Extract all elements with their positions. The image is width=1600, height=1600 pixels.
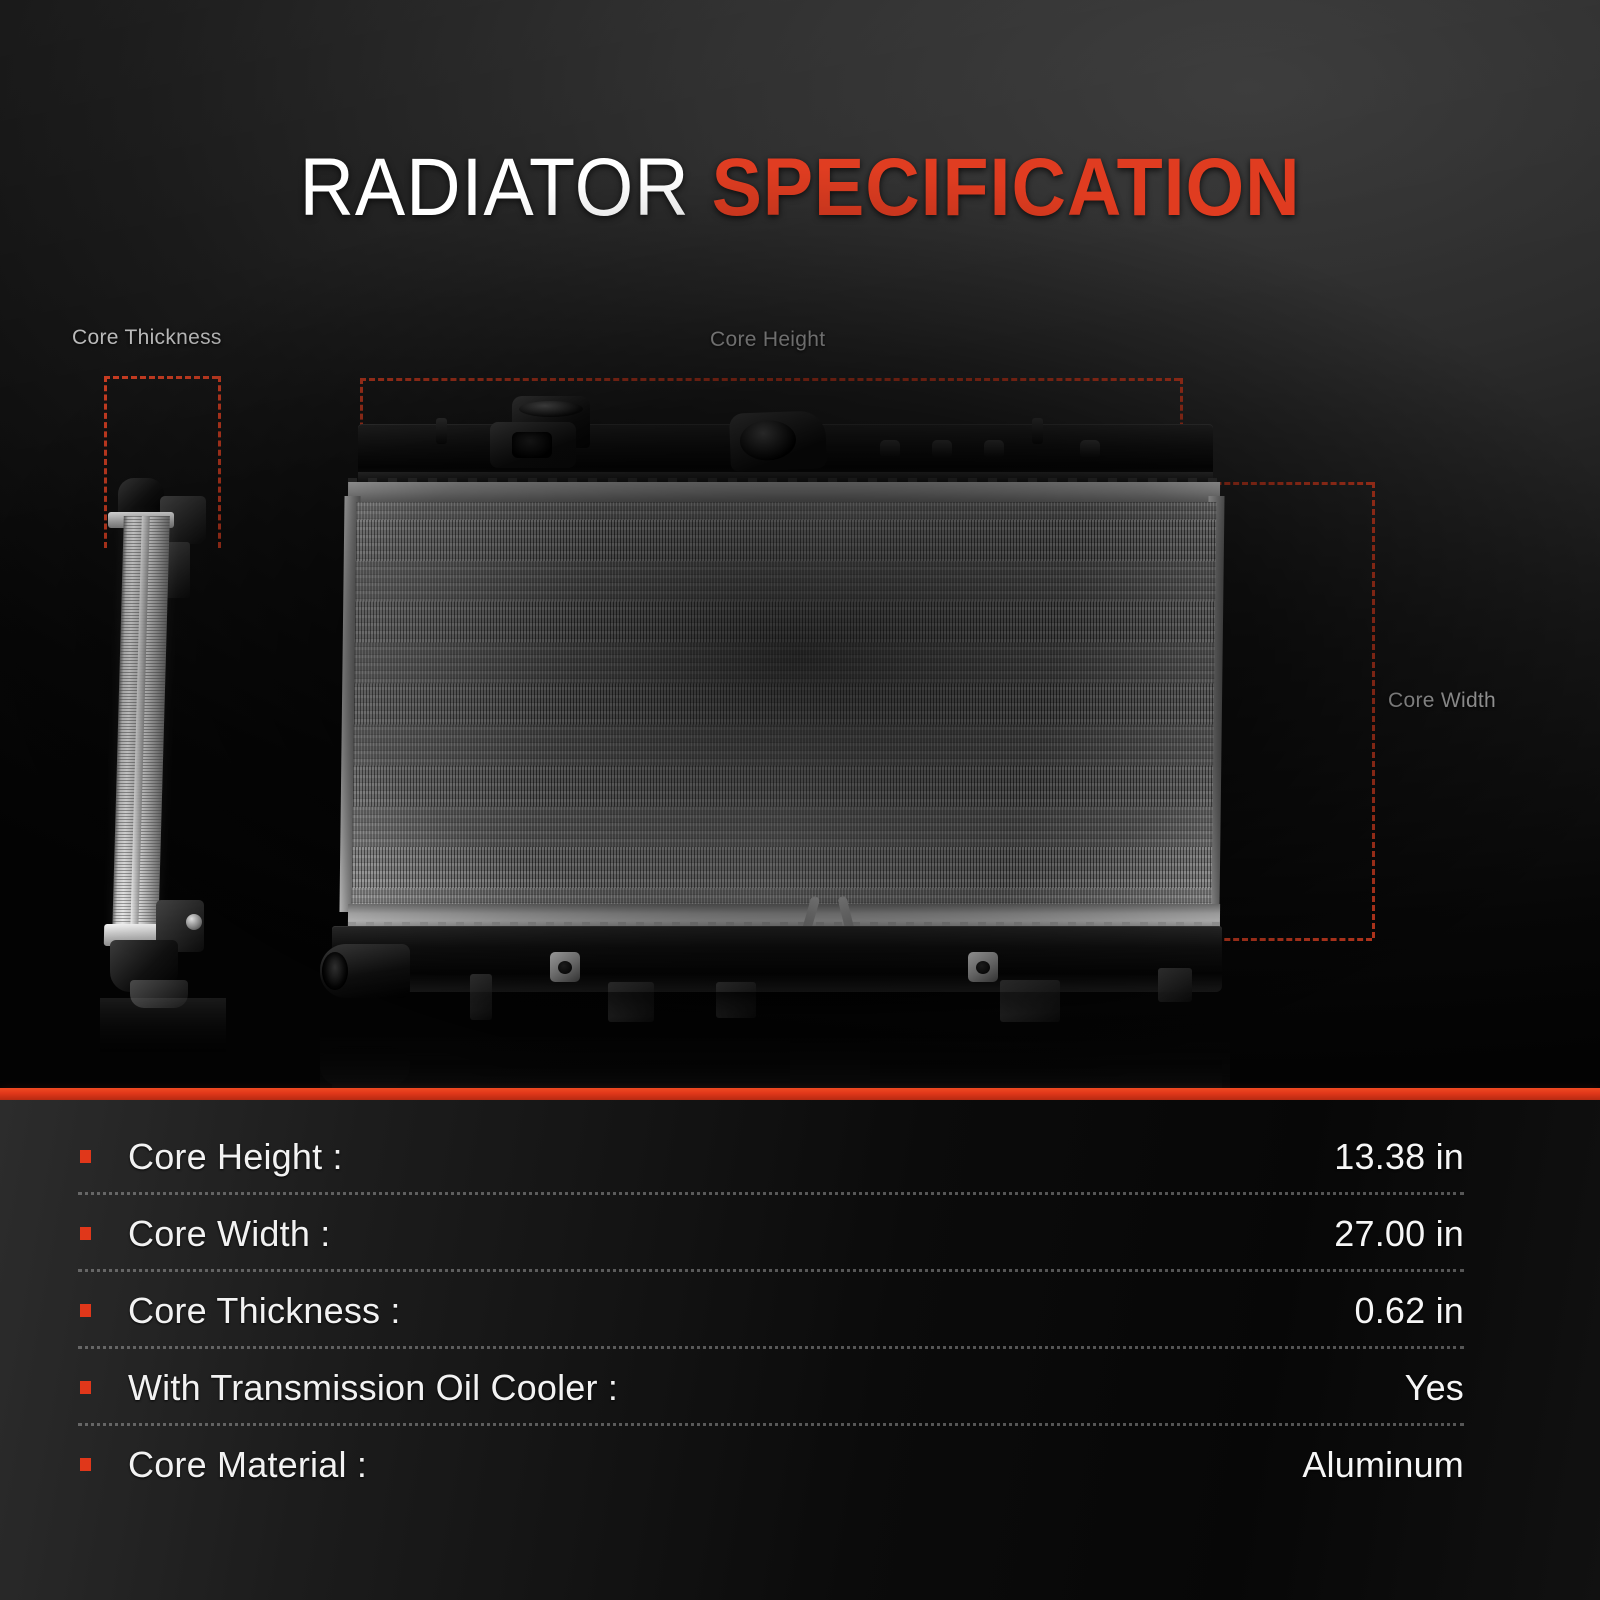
radiator-front-view (320, 396, 1230, 1004)
radiator-inlet-port (729, 410, 827, 471)
spec-label: Core Width : (128, 1213, 330, 1255)
top-tank-nub (984, 440, 1004, 458)
table-row: Core Width : 27.00 in (78, 1195, 1464, 1272)
width-guide-right (1372, 482, 1375, 938)
product-image-section: RADIATOR SPECIFICATION Core Thickness Co… (0, 0, 1600, 1092)
core-thickness-diagram-label: Core Thickness (72, 326, 222, 350)
bullet-square-icon (80, 1381, 91, 1394)
core-width-diagram-label: Core Width (1388, 689, 1496, 713)
bullet-square-icon (80, 1304, 91, 1317)
top-tank-nub (880, 440, 900, 458)
bottom-plastic-tank (332, 926, 1222, 992)
radiator-outlet-port (320, 944, 410, 998)
transmission-cooler-fitting (550, 952, 580, 982)
spec-value: Aluminum (1302, 1444, 1464, 1486)
radiator-side-view (100, 470, 226, 1000)
top-tank-nub (1080, 440, 1100, 458)
side-view-reflection (100, 998, 226, 1058)
page-title-accent: SPECIFICATION (712, 142, 1301, 233)
radiator-specification-page: RADIATOR SPECIFICATION Core Thickness Co… (0, 0, 1600, 1600)
spec-label: Core Height : (128, 1136, 343, 1178)
table-row: With Transmission Oil Cooler : Yes (78, 1349, 1464, 1426)
top-header-plate (348, 482, 1220, 504)
spec-value: 0.62 in (1355, 1290, 1465, 1332)
spec-label: With Transmission Oil Cooler : (128, 1367, 618, 1409)
table-row: Core Thickness : 0.62 in (78, 1272, 1464, 1349)
top-tank-stud (1032, 418, 1043, 444)
radiator-reflection (320, 1004, 1230, 1090)
radiator-cap-seat (490, 422, 576, 468)
core-height-diagram-label: Core Height (710, 328, 825, 352)
side-view-drain-bolt (186, 914, 202, 930)
top-tank-stud (436, 418, 447, 444)
spec-value: 13.38 in (1334, 1136, 1464, 1178)
spec-label: Core Thickness : (128, 1290, 401, 1332)
height-guide-top (360, 378, 1180, 381)
transmission-cooler-fitting (968, 952, 998, 982)
specification-table: Core Height : 13.38 in Core Width : 27.0… (78, 1118, 1464, 1503)
top-tank-nub (932, 440, 952, 458)
table-row: Core Material : Aluminum (78, 1426, 1464, 1503)
section-divider (0, 1088, 1600, 1100)
page-title-primary: RADIATOR (299, 142, 711, 233)
radiator-core (352, 502, 1217, 906)
spec-value: 27.00 in (1334, 1213, 1464, 1255)
specification-table-section: Core Height : 13.38 in Core Width : 27.0… (0, 1100, 1600, 1600)
spec-value: Yes (1405, 1367, 1464, 1409)
bullet-square-icon (80, 1227, 91, 1240)
bullet-square-icon (80, 1458, 91, 1471)
spec-label: Core Material : (128, 1444, 367, 1486)
bullet-square-icon (80, 1150, 91, 1163)
table-row: Core Height : 13.38 in (78, 1118, 1464, 1195)
core-sheen (352, 502, 1217, 906)
thickness-guide-top (104, 376, 218, 379)
page-title: RADIATOR SPECIFICATION (64, 143, 1536, 233)
